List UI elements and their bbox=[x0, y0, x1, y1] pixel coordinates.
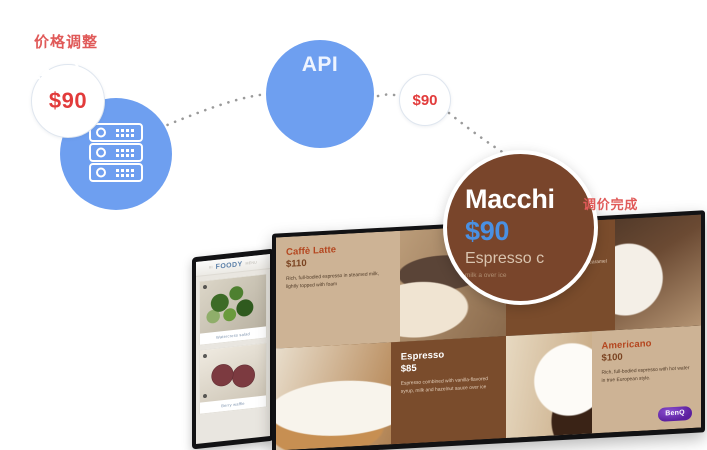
magnifier-item-name: Macchi bbox=[465, 184, 555, 215]
foody-brand: FOODY bbox=[216, 260, 243, 270]
transit-price-value: $90 bbox=[412, 92, 437, 109]
foody-header-right: MENU bbox=[246, 260, 257, 265]
diagram-canvas: 价格调整 $90 API bbox=[0, 0, 707, 450]
portrait-card: Berry waffle bbox=[199, 342, 267, 414]
portrait-signage-display[interactable]: III FOODY MENU Watercress salad Berry wa… bbox=[192, 249, 274, 450]
waffle-photo bbox=[200, 343, 266, 402]
cloud-sync-icon bbox=[26, 42, 82, 94]
connector-api-to-bubble bbox=[378, 95, 398, 97]
price-update-magnifier: Macchi $90 Espresso c milk a over ice bbox=[443, 150, 598, 305]
latte-desc: Rich, full-bodied espresso in steamed mi… bbox=[286, 270, 392, 292]
menu-item-espresso[interactable]: Espresso $85 Espresso combined with vani… bbox=[276, 336, 506, 450]
espresso-text-panel: Espresso $85 Espresso combined with vani… bbox=[391, 336, 506, 444]
magnifier-price: $90 bbox=[465, 216, 509, 247]
api-node: API bbox=[266, 40, 374, 148]
api-label: API bbox=[266, 53, 374, 77]
foody-header-left: III bbox=[209, 265, 213, 269]
magnifier-desc-small: milk a over ice bbox=[465, 271, 507, 281]
espresso-desc: Espresso combined with vanilla-flavored … bbox=[401, 375, 498, 396]
latte-text-panel: Caffè Latte $110 Rich, full-bodied espre… bbox=[276, 231, 400, 348]
portrait-card: Watercress salad bbox=[199, 273, 267, 345]
menu-row-bottom: Espresso $85 Espresso combined with vani… bbox=[276, 325, 701, 450]
server-rack-icon bbox=[88, 122, 144, 184]
salad-photo bbox=[200, 274, 266, 333]
magnifier-desc: Espresso c bbox=[465, 250, 544, 268]
americano-desc: Rich, full-bodied espresso with hot wate… bbox=[602, 365, 693, 386]
transit-price-bubble: $90 bbox=[399, 74, 451, 126]
benq-logo: BenQ bbox=[658, 406, 692, 422]
connector-server-to-api bbox=[160, 94, 268, 128]
price-update-done-label: 调价完成 bbox=[583, 194, 638, 213]
portrait-screen: III FOODY MENU Watercress salad Berry wa… bbox=[196, 254, 270, 444]
menu-item-americano[interactable]: Americano $100 Rich, full-bodied espress… bbox=[506, 325, 702, 438]
americano-price: $100 bbox=[602, 349, 693, 364]
